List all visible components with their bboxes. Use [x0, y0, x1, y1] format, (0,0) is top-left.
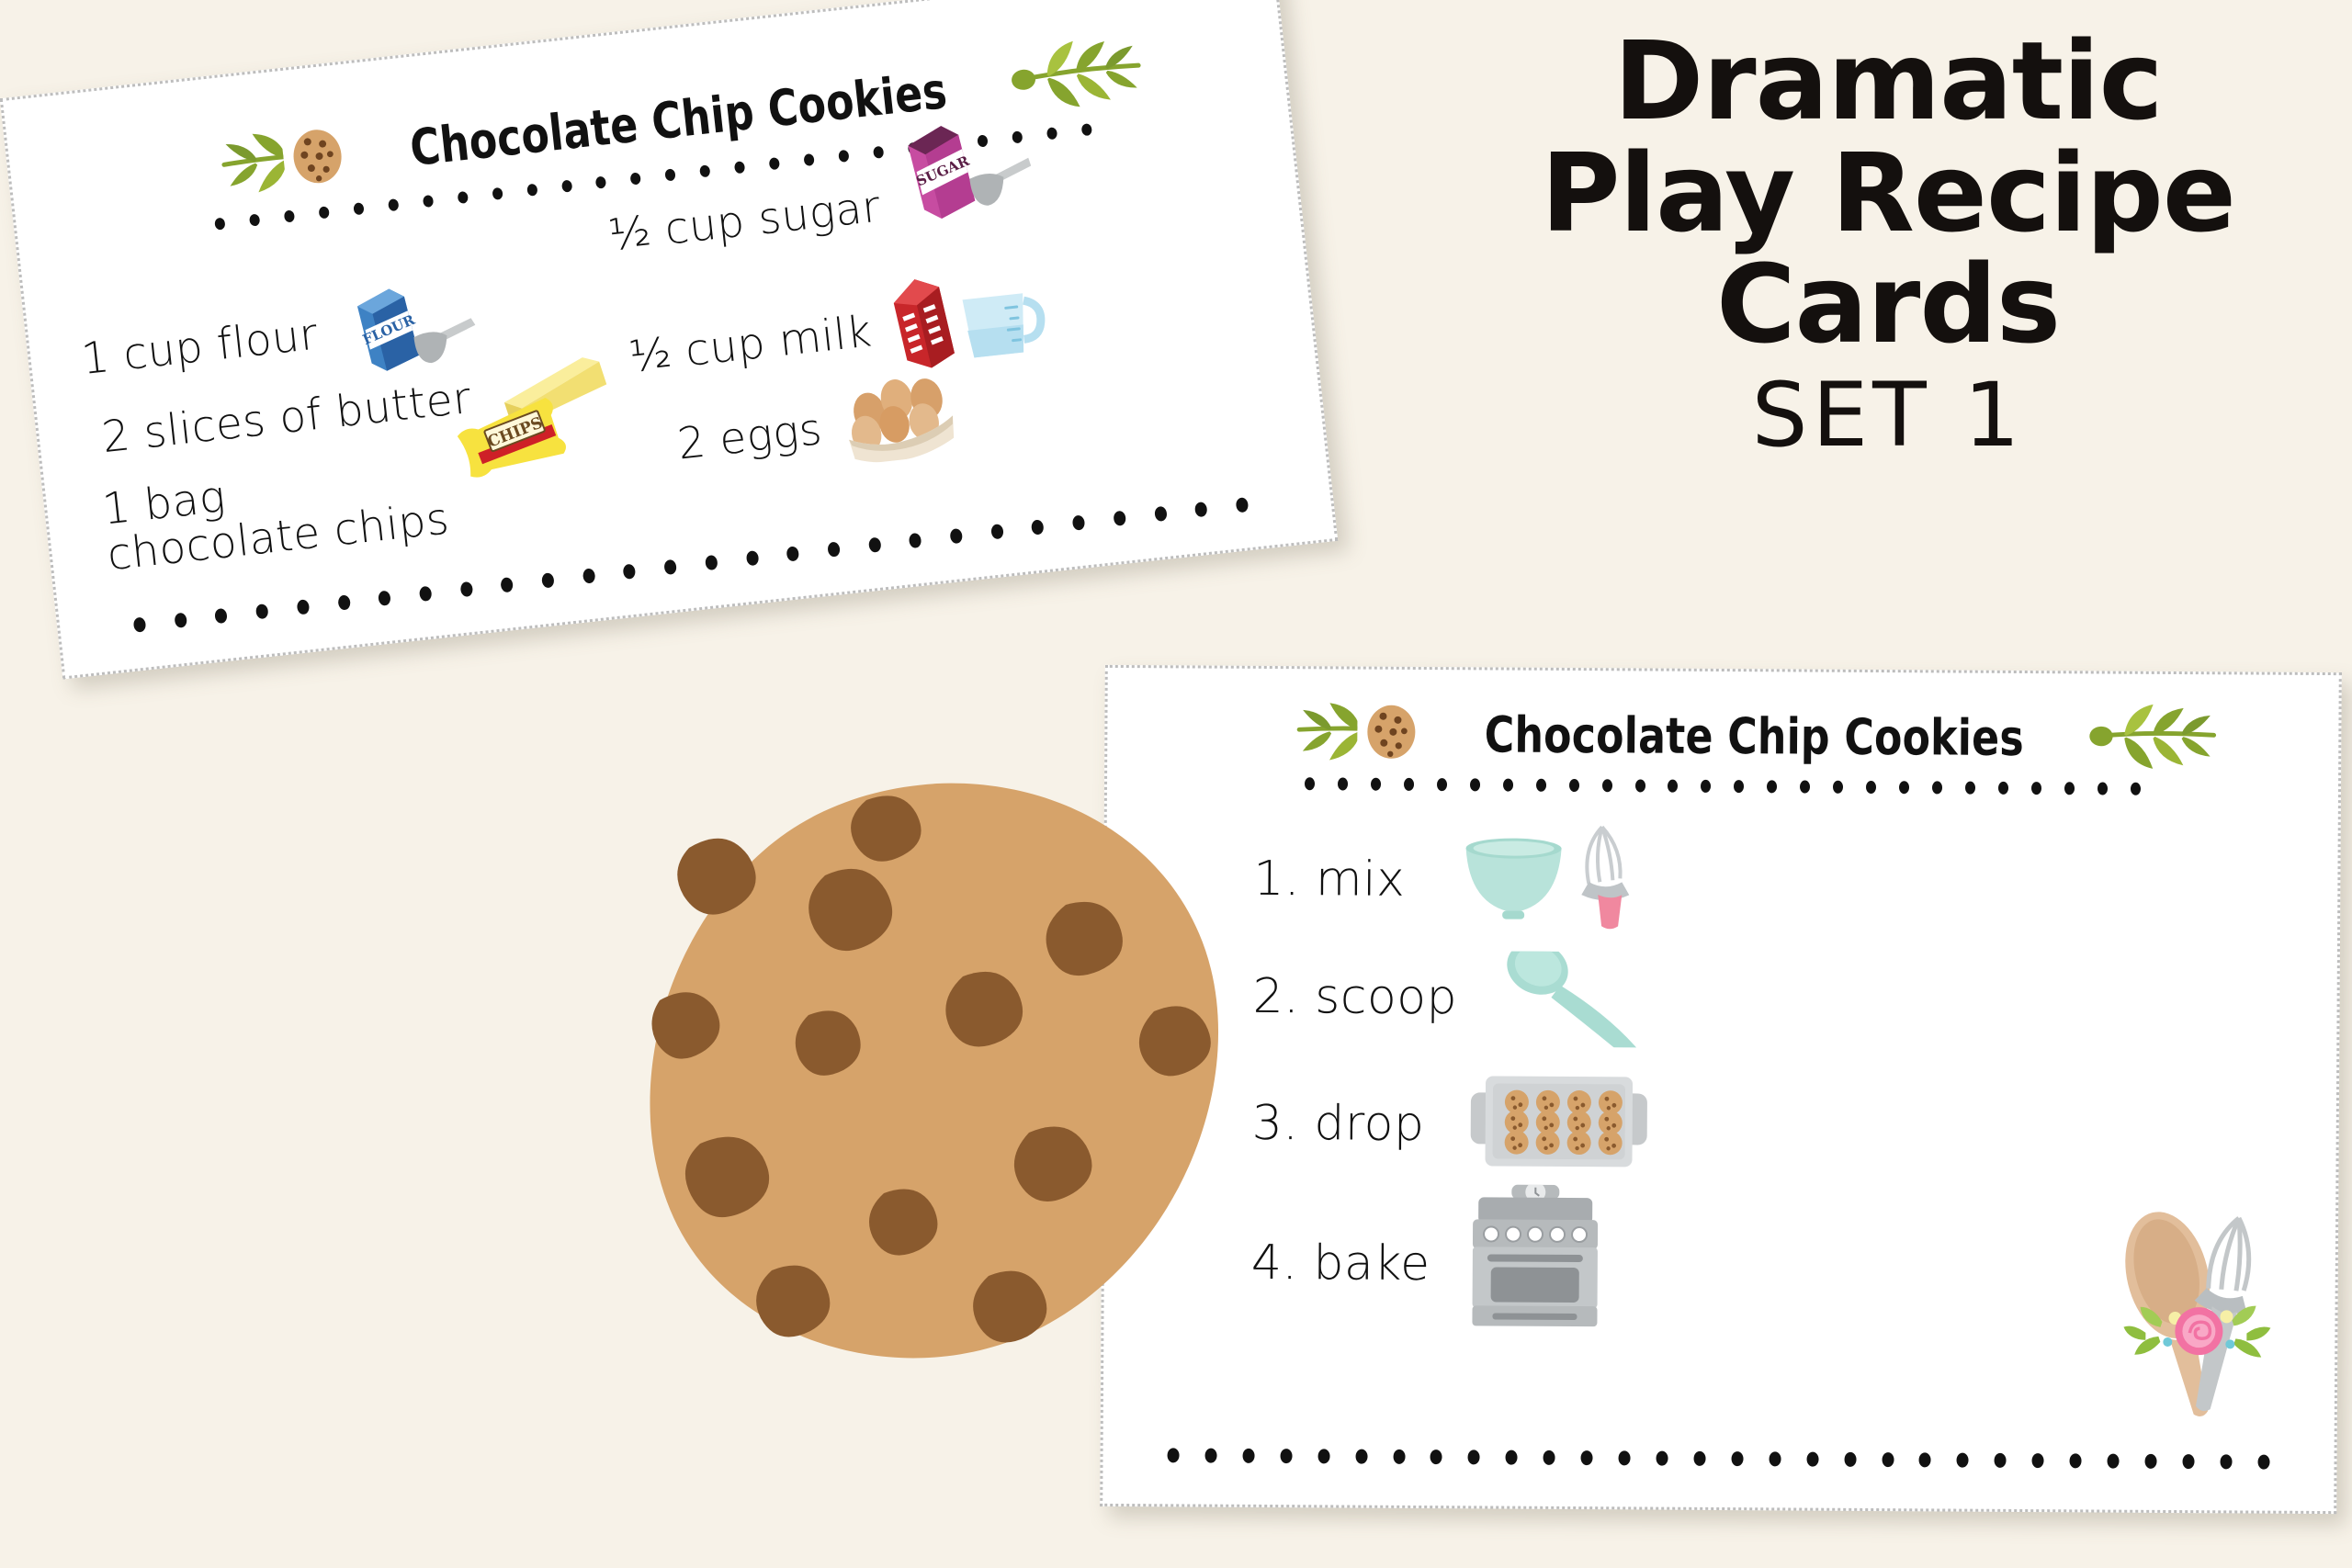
recipe-card-steps[interactable]: Chocolate Chip Cookies: [1100, 665, 2342, 1514]
step-label: 1. mix: [1253, 854, 1405, 906]
ingredient-label: 2 eggs: [675, 406, 824, 468]
promo-line-3: Cards: [1433, 249, 2343, 361]
promo-line-2: Play Recipe: [1433, 138, 2343, 250]
card-title: Chocolate Chip Cookies: [1485, 705, 2024, 767]
promo-text-block: Dramatic Play Recipe Cards SET 1: [1433, 26, 2343, 465]
baking-sheet-with-cookies-icon: [1466, 1065, 1651, 1182]
ingredient-label: ½ cup sugar: [606, 184, 883, 259]
card-bottom-dots: [1168, 1447, 2270, 1470]
card-header-steps: Chocolate Chip Cookies: [1107, 686, 2339, 785]
poster-canvas: Chocolate Chip Cookies: [0, 0, 2352, 1568]
laurel-branch-icon: [2088, 694, 2223, 783]
sugar-box-and-measuring-cup-icon: SUGAR: [886, 108, 1037, 238]
promo-set-label: SET 1: [1433, 367, 2343, 466]
ingredient-label: ½ cup milk: [628, 309, 875, 380]
chocolate-chips-bag-icon: CHIPS: [450, 394, 578, 491]
recipe-card-ingredients[interactable]: Chocolate Chip Cookies: [0, 0, 1338, 680]
step-label: 4. bake: [1251, 1238, 1430, 1290]
cookie-icon: [286, 125, 349, 192]
laurel-branch-icon: [1223, 689, 1358, 777]
step-label: 2. scoop: [1252, 972, 1457, 1023]
ingredient-label: 1 cup flour: [79, 311, 320, 382]
milk-carton-and-measuring-jug-icon: [874, 251, 1050, 381]
mixing-bowl-and-whisk-icon: [1454, 817, 1639, 938]
egg-carton-icon: [831, 365, 969, 471]
step-label: 3. drop: [1252, 1099, 1425, 1150]
laurel-branch-icon: [1006, 24, 1153, 128]
chocolate-chip-cookie-icon: [634, 776, 1240, 1364]
oven-stove-icon: [1466, 1184, 1603, 1337]
laurel-branch-icon: [142, 118, 289, 221]
wooden-spoon-whisk-floral-icon: [2116, 1197, 2283, 1432]
cookie-icon: [1363, 703, 1419, 764]
promo-line-1: Dramatic: [1433, 26, 2343, 138]
spoon-icon: [1488, 951, 1664, 1052]
